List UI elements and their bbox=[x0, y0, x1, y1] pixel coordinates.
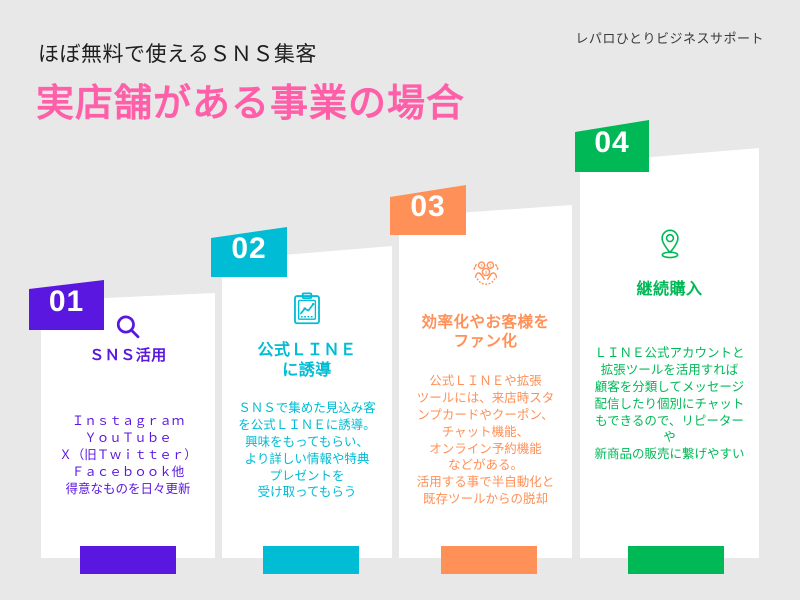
step-card-accent-bar bbox=[80, 546, 176, 574]
svg-text:$: $ bbox=[484, 270, 487, 275]
step-number-text: 03 bbox=[390, 190, 466, 224]
page-subtitle: ほぼ無料で使えるＳＮＳ集客 bbox=[38, 38, 317, 68]
svg-text:$: $ bbox=[480, 264, 482, 268]
step-card-text: Ｉｎｓｔａｇｒａｍ ＹｏｕＴｕｂｅ Ｘ（旧Ｔｗｉｔｔｅｒ） Ｆａｃｅｂｏｏｋ他 … bbox=[41, 413, 215, 497]
page-title: 実店舗がある事業の場合 bbox=[36, 72, 465, 127]
step-number-text: 02 bbox=[211, 232, 287, 266]
location-pin-icon bbox=[580, 228, 759, 262]
svg-text:$: $ bbox=[489, 264, 491, 268]
step-number-badge-04: 04 bbox=[575, 120, 649, 172]
step-number-badge-01: 01 bbox=[29, 280, 104, 330]
step-card-title: 公式ＬＩＮＥ に誘導 bbox=[222, 341, 392, 381]
step-card-text: ＬＩＮＥ公式アカウントと 拡張ツールを活用すれば 顧客を分類してメッセージ 配信… bbox=[580, 345, 759, 463]
step-card-accent-bar bbox=[628, 546, 724, 574]
step-card-accent-bar bbox=[441, 546, 537, 574]
step-card-accent-bar bbox=[263, 546, 359, 574]
step-number-text: 04 bbox=[575, 126, 649, 160]
hands-coins-icon: $$$ bbox=[399, 257, 572, 291]
infographic-canvas: レパロひとりビジネスサポート ほぼ無料で使えるＳＮＳ集客 実店舗がある事業の場合… bbox=[0, 0, 800, 600]
brand-label: レパロひとりビジネスサポート bbox=[575, 28, 764, 47]
step-number-badge-02: 02 bbox=[211, 227, 287, 277]
step-card-text: ＳＮＳで集めた見込み客 を公式ＬＩＮＥに誘導。 興味をもってもらい、 より詳しい… bbox=[222, 400, 392, 501]
step-card-title: 継続購入 bbox=[580, 280, 759, 300]
step-card-text: 公式ＬＩＮＥや拡張 ツールには、来店時スタ ンプカードやクーポン、 チャット機能… bbox=[399, 373, 572, 508]
step-number-badge-03: 03 bbox=[390, 185, 466, 235]
step-number-text: 01 bbox=[29, 285, 104, 319]
step-card-title: 効率化やお客様を ファン化 bbox=[399, 313, 572, 352]
step-card-title: ＳＮＳ活用 bbox=[41, 347, 215, 366]
clipboard-chart-icon bbox=[222, 292, 392, 326]
